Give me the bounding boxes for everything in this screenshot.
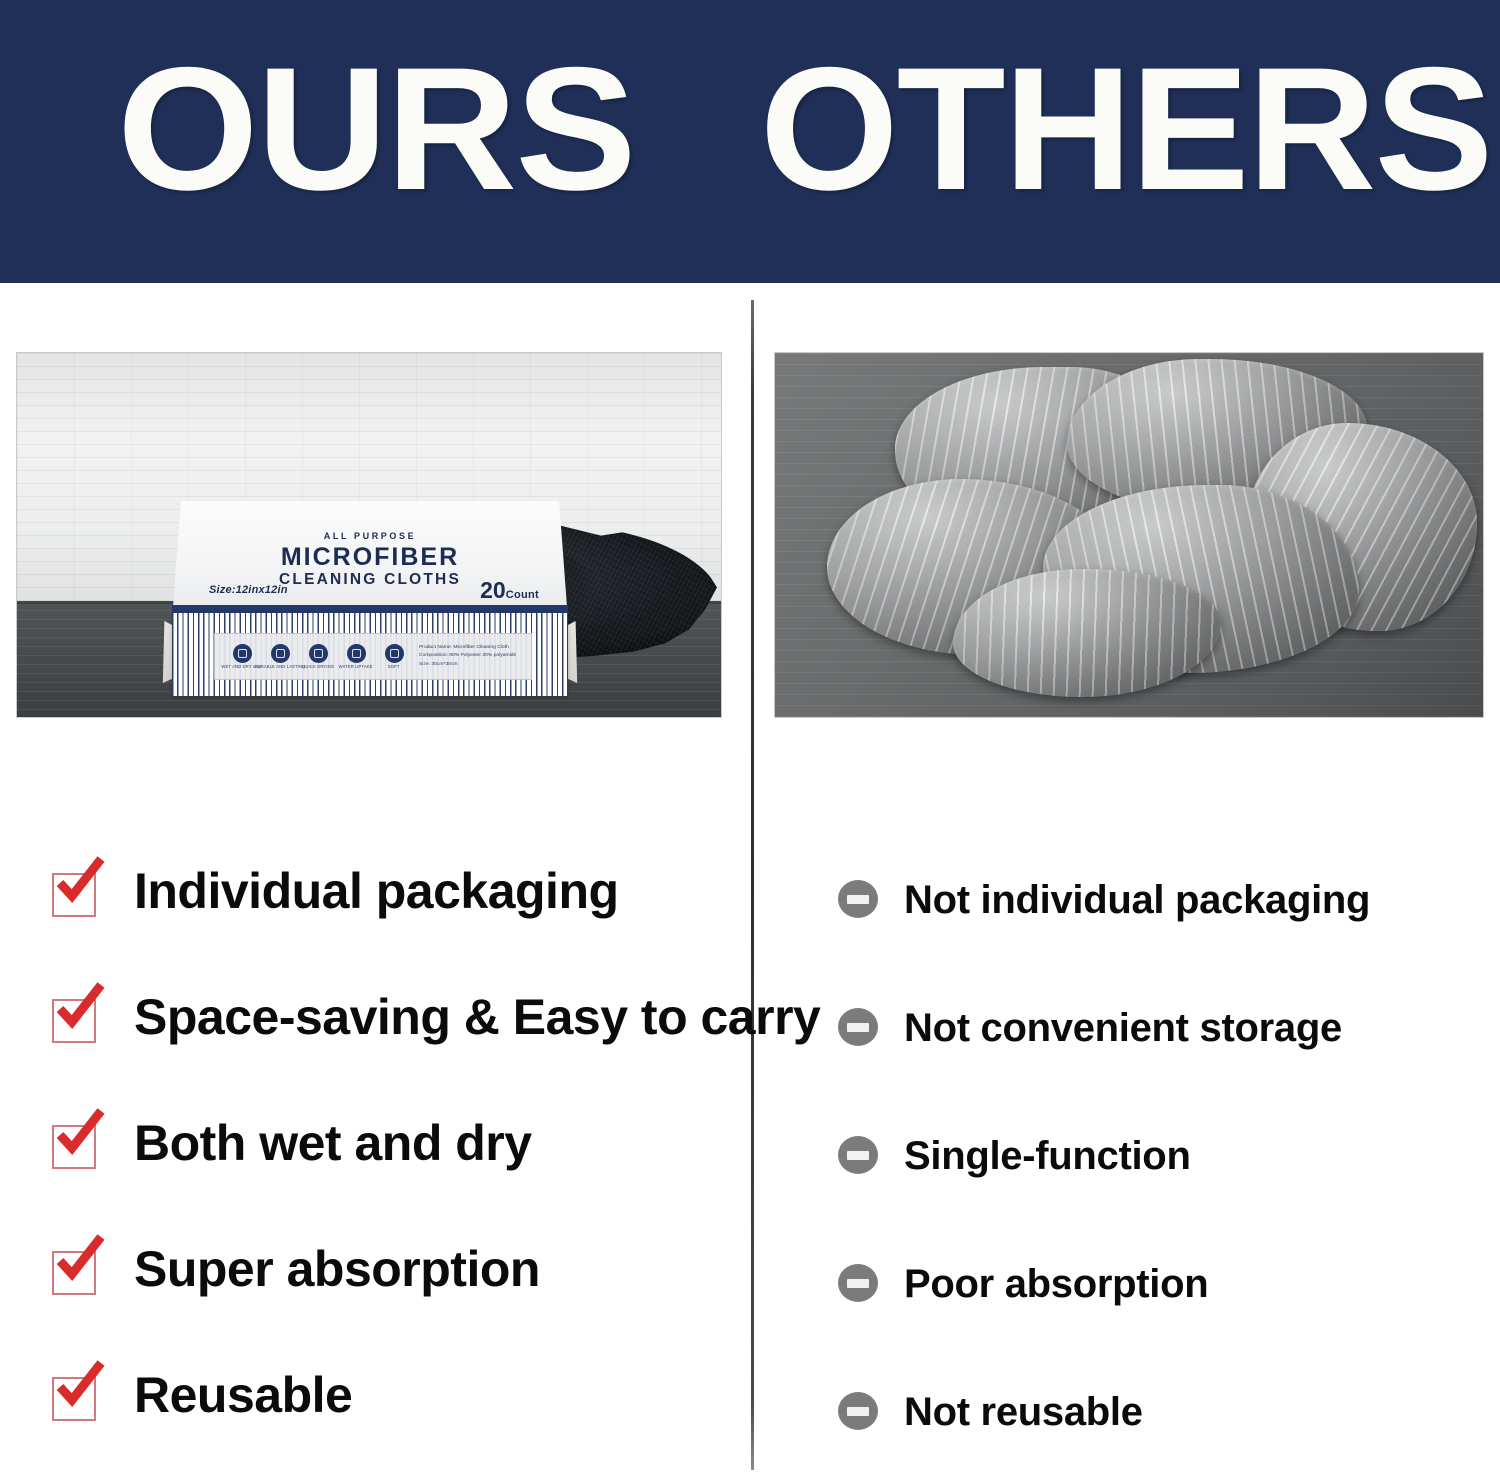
list-item-label: Not convenient storage: [904, 1008, 1342, 1048]
others-feature-list: Not individual packaging Not convenient …: [838, 836, 1478, 1473]
ours-feature-list: Individual packaging Space-saving & Easy…: [48, 828, 738, 1458]
feature-badge: WATER UPTAKE: [337, 644, 375, 669]
wet-dry-icon: [233, 644, 252, 663]
checkbox-checked-icon: [48, 1369, 100, 1421]
list-item-label: Not reusable: [904, 1392, 1143, 1432]
list-item-label: Reusable: [134, 1370, 352, 1420]
page-title-others: OTHERS: [760, 42, 1492, 217]
list-item-label: Poor absorption: [904, 1264, 1208, 1304]
list-item: Super absorption: [48, 1206, 738, 1332]
package-feature-panel: WET AND DRY USE DURABLE AND LASTING QUIC…: [214, 633, 532, 680]
package-info-line: Composition: 80% Polyester 20% polyamide: [419, 652, 516, 660]
microfiber-package: ALL PURPOSE MICROFIBER CLEANING CLOTHS S…: [165, 501, 575, 696]
package-count: 20Count: [480, 577, 539, 604]
minus-circle-icon: [838, 1264, 878, 1304]
list-item-label: Space-saving & Easy to carry: [134, 992, 820, 1042]
package-top-face: ALL PURPOSE MICROFIBER CLEANING CLOTHS S…: [173, 501, 567, 607]
durable-icon: [271, 644, 290, 663]
soft-icon: [385, 644, 404, 663]
list-item: Space-saving & Easy to carry: [48, 954, 738, 1080]
comparison-poster: OURS OTHERS ALL PURPOSE MICROFIBER CLEAN…: [0, 0, 1500, 1473]
checkbox-checked-icon: [48, 991, 100, 1043]
page-title-ours: OURS: [117, 42, 635, 217]
package-count-number: 20: [480, 577, 506, 603]
list-item: Not reusable: [838, 1348, 1478, 1473]
list-item: Reusable: [48, 1332, 738, 1458]
header-cell-others: OTHERS: [752, 0, 1500, 283]
water-uptake-icon: [347, 644, 366, 663]
list-item: Poor absorption: [838, 1220, 1478, 1348]
package-title: MICROFIBER: [173, 543, 567, 572]
list-item-label: Super absorption: [134, 1244, 540, 1294]
others-product-photo: [774, 352, 1484, 718]
minus-circle-icon: [838, 1008, 878, 1048]
feature-label: WATER UPTAKE: [339, 665, 373, 670]
list-item-label: Individual packaging: [134, 866, 619, 916]
list-item: Single-function: [838, 1092, 1478, 1220]
list-item-label: Both wet and dry: [134, 1118, 532, 1168]
list-item-label: Not individual packaging: [904, 880, 1370, 920]
feature-badge: QUICK DRYING: [299, 644, 337, 669]
package-count-label: Count: [506, 589, 539, 601]
list-item: Not convenient storage: [838, 964, 1478, 1092]
package-eyebrow: ALL PURPOSE: [173, 531, 567, 541]
ours-product-photo: ALL PURPOSE MICROFIBER CLEANING CLOTHS S…: [16, 352, 722, 718]
header-band: OURS OTHERS: [0, 0, 1500, 283]
quick-drying-icon: [309, 644, 328, 663]
feature-label: DURABLE AND LASTING: [254, 665, 305, 670]
list-item: Both wet and dry: [48, 1080, 738, 1206]
checkbox-checked-icon: [48, 1117, 100, 1169]
list-item: Individual packaging: [48, 828, 738, 954]
list-item: Not individual packaging: [838, 836, 1478, 964]
minus-circle-icon: [838, 1392, 878, 1432]
package-size: Size:12inx12in: [209, 584, 288, 596]
checkbox-checked-icon: [48, 865, 100, 917]
feature-badge: SOFT: [375, 644, 413, 669]
feature-badge: DURABLE AND LASTING: [261, 644, 299, 669]
header-cell-ours: OURS: [0, 0, 752, 283]
package-info-line: Size: 30cm*30cm: [419, 661, 516, 669]
feature-label: QUICK DRYING: [302, 665, 334, 670]
minus-circle-icon: [838, 1136, 878, 1176]
package-info-block: Product Name: Microfiber Cleaning Cloth …: [419, 644, 516, 669]
package-front-face: WET AND DRY USE DURABLE AND LASTING QUIC…: [172, 613, 568, 696]
list-item-label: Single-function: [904, 1136, 1191, 1176]
minus-circle-icon: [838, 880, 878, 920]
checkbox-checked-icon: [48, 1243, 100, 1295]
column-divider: [751, 300, 754, 1470]
feature-label: SOFT: [388, 665, 400, 670]
